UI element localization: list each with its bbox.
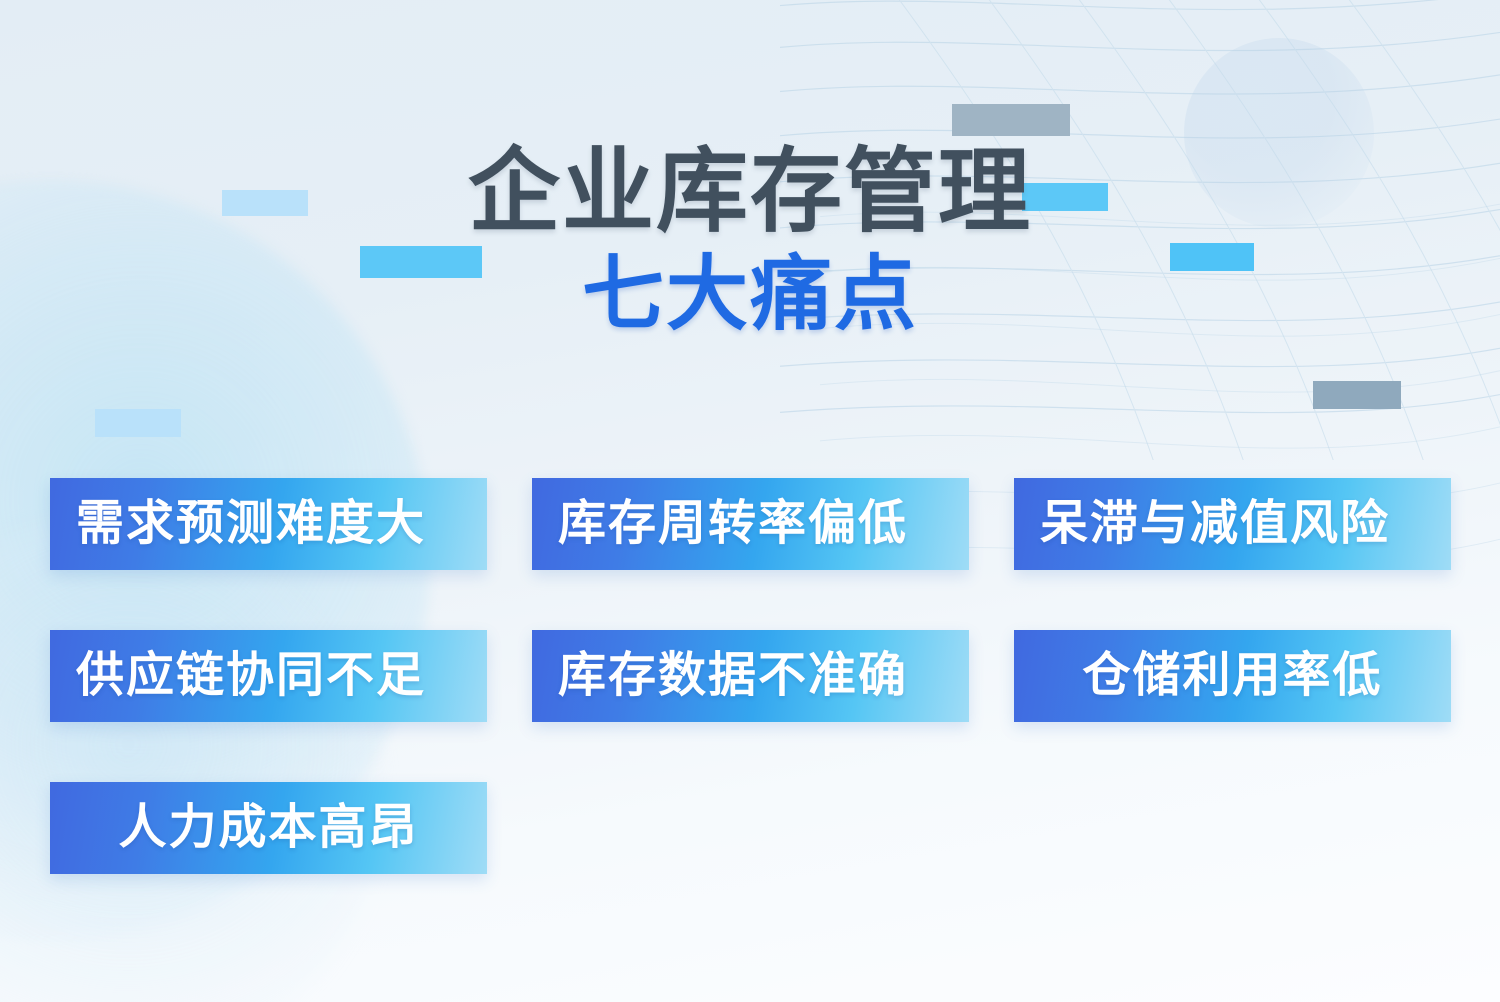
pain-point-item[interactable]: 呆滞与减值风险 (1014, 478, 1451, 570)
poster-heading-group: 企业库存管理 七大痛点 (0, 140, 1500, 342)
pain-point-item[interactable]: 需求预测难度大 (50, 478, 487, 570)
pain-point-item[interactable]: 库存数据不准确 (532, 630, 969, 722)
pain-point-label: 库存数据不准确 (532, 652, 908, 700)
deco-block-gray-right-lower (1313, 381, 1401, 409)
pain-point-label: 供应链协同不足 (50, 652, 426, 700)
page-subtitle: 七大痛点 (0, 248, 1500, 342)
page-title: 企业库存管理 (0, 140, 1500, 244)
pain-point-item[interactable]: 人力成本高昂 (50, 782, 487, 874)
deco-block-gray-top (952, 104, 1070, 136)
pain-point-grid: 需求预测难度大 库存周转率偏低 呆滞与减值风险 供应链协同不足 库存数据不准确 … (50, 478, 1452, 874)
deco-block-pale-left (95, 409, 181, 437)
pain-point-label: 呆滞与减值风险 (1014, 500, 1390, 548)
pain-point-label: 人力成本高昂 (50, 804, 487, 852)
pain-point-item[interactable]: 供应链协同不足 (50, 630, 487, 722)
pain-point-item[interactable]: 仓储利用率低 (1014, 630, 1451, 722)
pain-point-label: 需求预测难度大 (50, 500, 426, 548)
pain-point-label: 库存周转率偏低 (532, 500, 908, 548)
pain-point-item[interactable]: 库存周转率偏低 (532, 478, 969, 570)
poster-canvas: 企业库存管理 七大痛点 需求预测难度大 库存周转率偏低 呆滞与减值风险 供应链协… (0, 0, 1500, 1002)
pain-point-label: 仓储利用率低 (1014, 652, 1451, 700)
